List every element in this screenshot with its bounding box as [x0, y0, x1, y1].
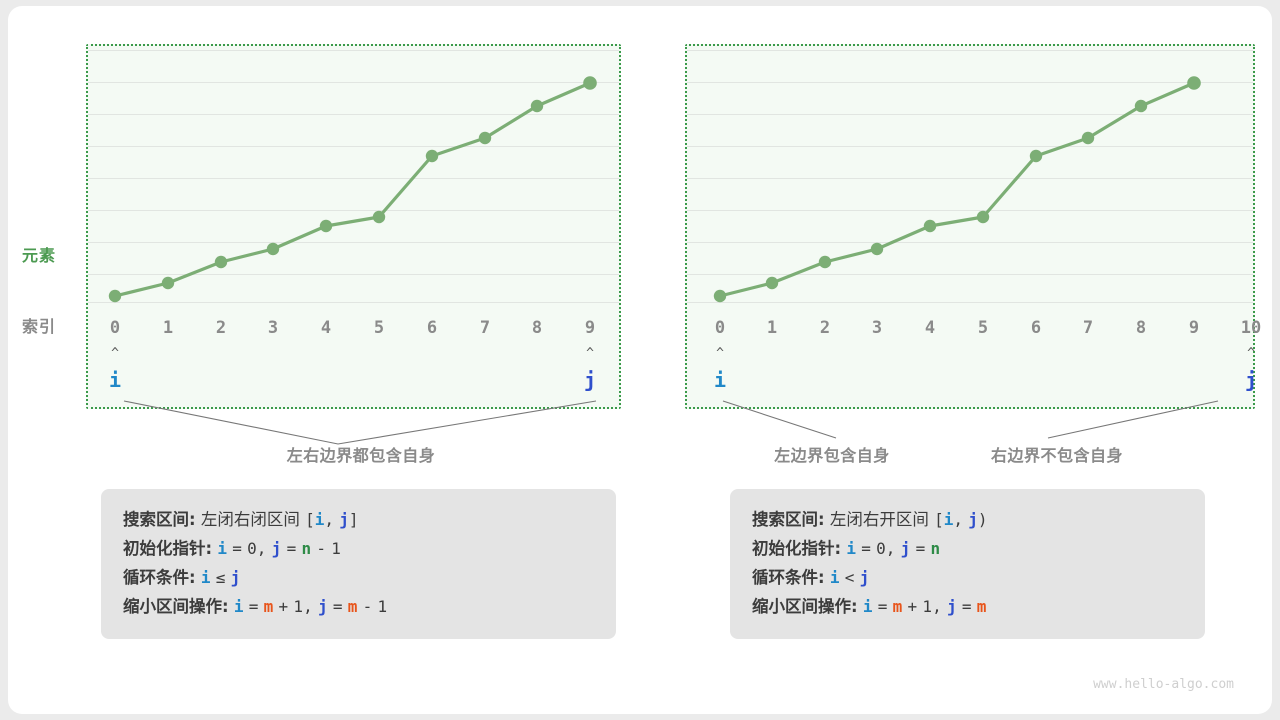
leader-lines-right: [648, 6, 1272, 476]
info-label: 初始化指针:: [123, 539, 212, 558]
comma: ,: [953, 510, 963, 529]
callout-right-boundary: 右边界不包含自身: [991, 442, 1123, 466]
var-i: i: [201, 568, 211, 587]
info-row-loop-condition: 循环条件: i < j: [752, 563, 1183, 592]
literal-one: 1: [378, 597, 388, 616]
literal-zero: 0: [247, 539, 257, 558]
var-m: m: [348, 597, 358, 616]
var-m: m: [264, 597, 274, 616]
operator-equals: =: [861, 539, 871, 558]
var-j: j: [231, 568, 241, 587]
var-j: j: [901, 539, 911, 558]
info-row-loop-condition: 循环条件: i ≤ j: [123, 563, 594, 592]
panel-closed-open: 0 1 2 3 4 5 6 7 8 9 10 ^ ^ i j 左边界包含自身 右…: [648, 6, 1272, 714]
page-card: 元素 索引: [8, 6, 1272, 714]
panel-closed-closed: 元素 索引: [8, 6, 648, 714]
operator-equals: =: [962, 597, 972, 616]
info-label: 循环条件:: [752, 568, 825, 587]
var-j: j: [968, 510, 978, 529]
callout-left: 左右边界都包含自身: [287, 442, 436, 466]
comma: ,: [257, 539, 267, 558]
var-m: m: [977, 597, 987, 616]
var-i: i: [830, 568, 840, 587]
operator-equals: =: [333, 597, 343, 616]
operator-plus: +: [279, 597, 289, 616]
var-i: i: [217, 539, 227, 558]
operator-plus: +: [908, 597, 918, 616]
comma: ,: [932, 597, 942, 616]
operator-equals: =: [916, 539, 926, 558]
watermark: www.hello-algo.com: [1093, 677, 1234, 692]
infobox-closed-open: 搜索区间: 左闭右开区间 [i, j) 初始化指针: i = 0, j = n …: [730, 489, 1205, 639]
bracket-open: [: [934, 510, 944, 529]
info-label: 缩小区间操作:: [752, 597, 858, 616]
comma: ,: [324, 510, 334, 529]
var-n: n: [930, 539, 940, 558]
info-label: 循环条件:: [123, 568, 196, 587]
info-row-search-interval: 搜索区间: 左闭右闭区间 [i, j]: [123, 505, 594, 534]
bracket-close: ): [978, 510, 988, 529]
var-i: i: [944, 510, 954, 529]
leader-lines-left: [8, 6, 648, 476]
var-i: i: [863, 597, 873, 616]
var-i: i: [315, 510, 325, 529]
info-label: 搜索区间:: [123, 510, 196, 529]
comma: ,: [303, 597, 313, 616]
var-j: j: [272, 539, 282, 558]
literal-one: 1: [293, 597, 303, 616]
info-row-init-pointers: 初始化指针: i = 0, j = n: [752, 534, 1183, 563]
operator-minus: -: [363, 597, 373, 616]
operator-minus: -: [316, 539, 326, 558]
var-i: i: [234, 597, 244, 616]
info-row-search-interval: 搜索区间: 左闭右开区间 [i, j): [752, 505, 1183, 534]
info-label: 缩小区间操作:: [123, 597, 229, 616]
var-j: j: [339, 510, 349, 529]
info-label: 初始化指针:: [752, 539, 841, 558]
operator-equals: =: [249, 597, 259, 616]
literal-one: 1: [922, 597, 932, 616]
operator-equals: =: [878, 597, 888, 616]
var-m: m: [893, 597, 903, 616]
info-row-narrow-operation: 缩小区间操作: i = m + 1, j = m - 1: [123, 592, 594, 621]
bracket-open: [: [305, 510, 315, 529]
var-i: i: [846, 539, 856, 558]
comma: ,: [886, 539, 896, 558]
var-n: n: [301, 539, 311, 558]
info-row-narrow-operation: 缩小区间操作: i = m + 1, j = m: [752, 592, 1183, 621]
literal-one: 1: [331, 539, 341, 558]
bracket-close: ]: [349, 510, 359, 529]
operator-equals: =: [287, 539, 297, 558]
literal-zero: 0: [876, 539, 886, 558]
var-j: j: [318, 597, 328, 616]
info-value: 左闭右闭区间: [201, 510, 300, 529]
operator-equals: =: [232, 539, 242, 558]
infobox-closed-closed: 搜索区间: 左闭右闭区间 [i, j] 初始化指针: i = 0, j = n …: [101, 489, 616, 639]
var-j: j: [860, 568, 870, 587]
callout-left-boundary: 左边界包含自身: [774, 442, 890, 466]
info-value: 左闭右开区间: [830, 510, 929, 529]
operator-compare: ≤: [216, 568, 226, 587]
info-row-init-pointers: 初始化指针: i = 0, j = n - 1: [123, 534, 594, 563]
var-j: j: [947, 597, 957, 616]
operator-compare: <: [845, 568, 855, 587]
info-label: 搜索区间:: [752, 510, 825, 529]
